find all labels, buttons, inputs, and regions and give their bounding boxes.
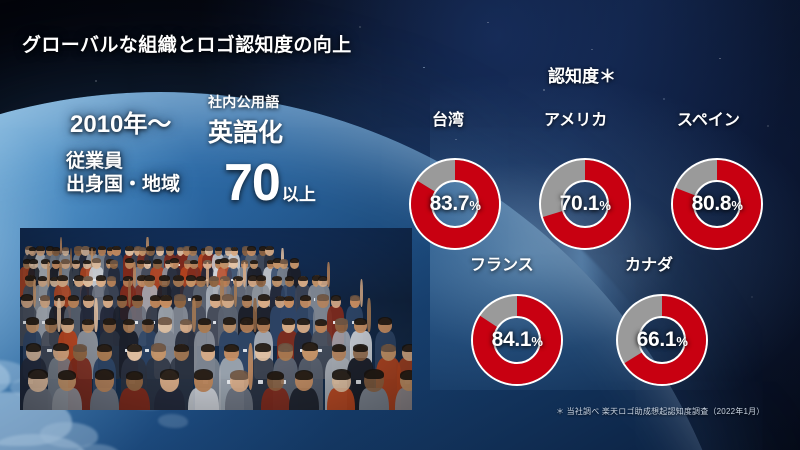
page-title: グローバルな組織とロゴ認知度の向上	[22, 30, 352, 57]
donut-chart-フランス: 84.1%	[469, 292, 565, 388]
donut-label-カナダ: カナダ	[625, 251, 673, 275]
stat-year-since: 2010年〜	[70, 104, 171, 139]
stat-country-count-suffix: 以上	[282, 180, 316, 208]
donut-label-台湾: 台湾	[432, 106, 464, 130]
stat-official-language-value: 英語化	[208, 113, 378, 149]
donut-label-フランス: フランス	[470, 251, 534, 275]
donut-svg	[407, 156, 503, 252]
donut-chart-カナダ: 66.1%	[614, 292, 710, 388]
stat-country-count-number: 70	[224, 160, 280, 208]
stat-country-count: 70 以上	[224, 160, 316, 208]
stat-employee-origin: 従業員 出身国・地域	[66, 150, 180, 196]
slide-canvas: グローバルな組織とロゴ認知度の向上 2010年〜 従業員 出身国・地域 社内公用…	[0, 0, 800, 450]
donut-label-スペイン: スペイン	[677, 106, 740, 130]
employee-group-photo	[20, 228, 412, 410]
donut-chart-アメリカ: 70.1%	[537, 156, 633, 252]
awareness-heading: 認知度＊	[548, 62, 616, 87]
donut-chart-スペイン: 80.8%	[669, 156, 765, 252]
stat-employee-origin-line2: 出身国・地域	[66, 173, 180, 196]
donut-chart-台湾: 83.7%	[407, 156, 503, 252]
stat-employee-origin-line1: 従業員	[66, 150, 180, 173]
stat-official-language: 社内公用語 英語化	[208, 92, 378, 149]
survey-footnote: ＊ 当社調べ 楽天ロゴ助成想起認知度調査（2022年1月）	[556, 406, 765, 417]
donut-svg	[669, 156, 765, 252]
donut-svg	[469, 292, 565, 388]
donut-svg	[537, 156, 633, 252]
stat-official-language-label: 社内公用語	[208, 92, 378, 112]
donut-label-アメリカ: アメリカ	[544, 106, 607, 130]
donut-svg	[614, 292, 710, 388]
photo-vignette	[20, 228, 412, 410]
